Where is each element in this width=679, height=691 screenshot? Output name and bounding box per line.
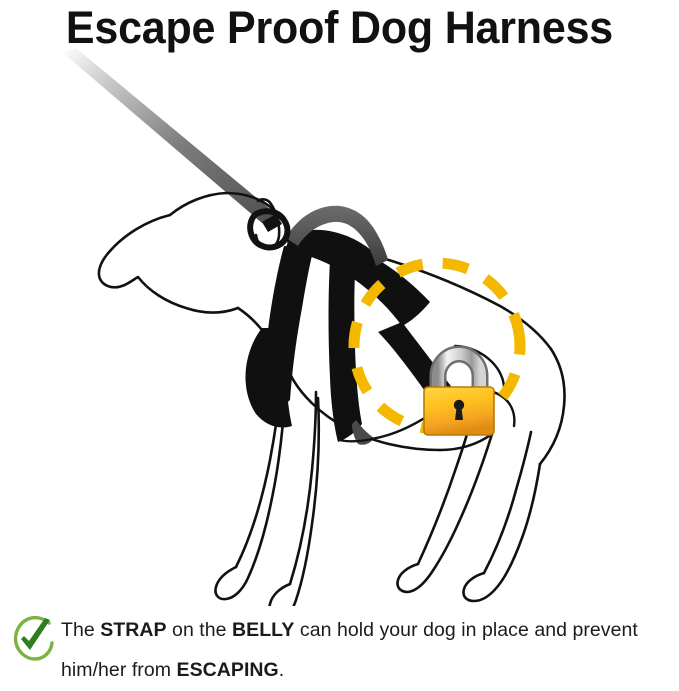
green-check-icon xyxy=(8,614,56,662)
caption-text-run: him/her from xyxy=(61,659,177,681)
caption-text: The STRAP on the BELLY can hold your dog… xyxy=(61,610,675,690)
caption-line-1: The STRAP on the BELLY can hold your dog… xyxy=(61,610,675,650)
product-infographic: Escape Proof Dog Harness xyxy=(0,0,679,691)
leash-strap xyxy=(62,48,276,223)
caption-text-run: can hold your dog in place and prevent xyxy=(294,619,637,641)
padlock-icon xyxy=(424,354,494,435)
caption-emphasis: STRAP xyxy=(100,619,166,641)
caption-text-run: on the xyxy=(167,619,232,641)
page-title: Escape Proof Dog Harness xyxy=(66,5,613,51)
harness-illustration xyxy=(0,46,679,606)
caption-emphasis: BELLY xyxy=(232,619,294,641)
caption-line-2: him/her from ESCAPING. xyxy=(61,650,675,690)
caption-text-run: The xyxy=(61,619,100,641)
caption-emphasis: ESCAPING xyxy=(177,659,279,681)
caption-text-run: . xyxy=(279,659,284,681)
caption-block: The STRAP on the BELLY can hold your dog… xyxy=(0,606,679,691)
